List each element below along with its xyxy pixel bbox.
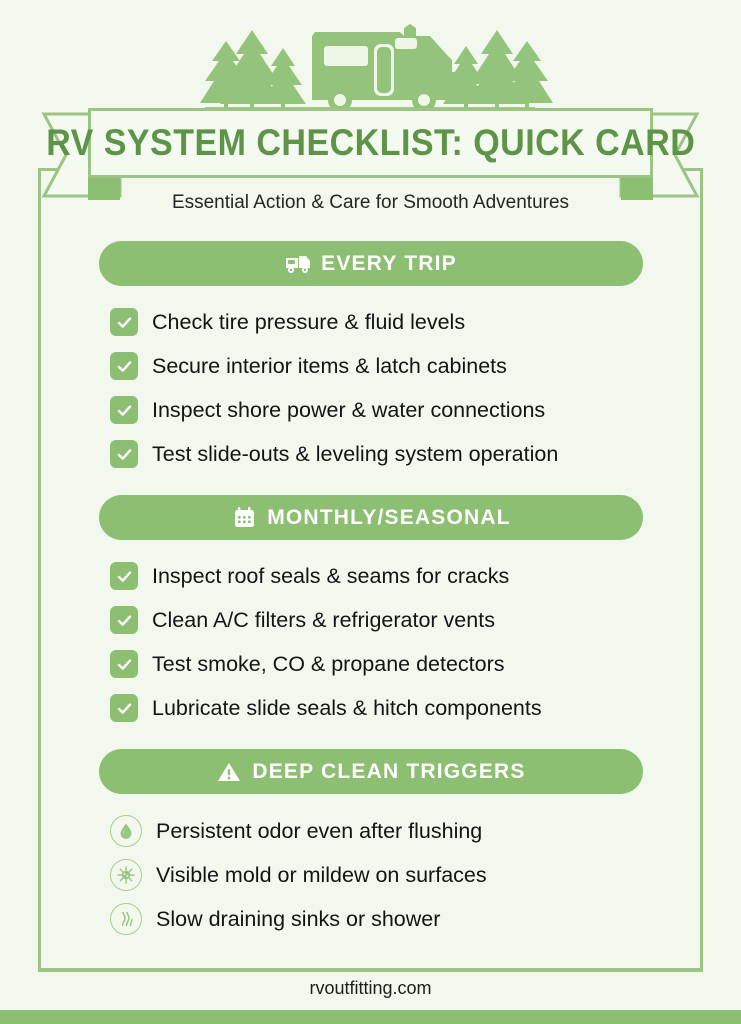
section-label-monthly-seasonal: MONTHLY/SEASONAL [267,506,511,530]
list-item-label: Clean A/C filters & refrigerator vents [152,608,495,633]
list-item[interactable]: Inspect roof seals & seams for cracks [110,554,710,598]
poster-canvas: RV SYSTEM CHECKLIST: QUICK CARD Essentia… [0,0,741,1024]
steam-waves-icon [110,903,142,935]
section-label-deep-clean-triggers: DEEP CLEAN TRIGGERS [252,760,525,784]
water-droplet-icon [110,815,142,847]
list-item-label: Test slide-outs & leveling system operat… [152,442,558,467]
page-title: RV SYSTEM CHECKLIST: QUICK CARD [46,122,695,164]
footer-divider [41,968,700,971]
list-item[interactable]: Inspect shore power & water connections [110,388,710,432]
calendar-icon [231,505,257,531]
list-item-label: Test smoke, CO & propane detectors [152,652,505,677]
list-item-label: Secure interior items & latch cabinets [152,354,507,379]
list-item[interactable]: Secure interior items & latch cabinets [110,344,710,388]
footer-website[interactable]: rvoutfitting.com [0,978,741,999]
trigger-list-deep-clean: Persistent odor even after flushing [110,809,710,941]
page-subtitle: Essential Action & Care for Smooth Adven… [0,192,741,214]
section-label-every-trip: EVERY TRIP [321,252,457,276]
list-item[interactable]: Visible mold or mildew on surfaces [110,853,710,897]
warning-triangle-icon [216,759,242,785]
list-item[interactable]: Clean A/C filters & refrigerator vents [110,598,710,642]
checkbox-checked-icon[interactable] [110,352,138,380]
checkbox-checked-icon[interactable] [110,308,138,336]
list-item[interactable]: Test smoke, CO & propane detectors [110,642,710,686]
bottom-accent-bar [0,1010,741,1024]
germ-mold-icon [110,859,142,891]
checkbox-checked-icon[interactable] [110,562,138,590]
section-header-deep-clean-triggers: DEEP CLEAN TRIGGERS [99,749,643,794]
list-item-label: Persistent odor even after flushing [156,819,482,844]
list-item-label: Inspect roof seals & seams for cracks [152,564,509,589]
list-item[interactable]: Check tire pressure & fluid levels [110,300,710,344]
section-header-every-trip: EVERY TRIP [99,241,643,286]
list-item[interactable]: Lubricate slide seals & hitch components [110,686,710,730]
ribbon-title-band: RV SYSTEM CHECKLIST: QUICK CARD [88,108,653,178]
list-item-label: Inspect shore power & water connections [152,398,545,423]
checkbox-checked-icon[interactable] [110,606,138,634]
list-item[interactable]: Test slide-outs & leveling system operat… [110,432,710,476]
list-item[interactable]: Persistent odor even after flushing [110,809,710,853]
list-item-label: Slow draining sinks or shower [156,907,440,932]
checkbox-checked-icon[interactable] [110,650,138,678]
checklist-every-trip: Check tire pressure & fluid levels Secur… [110,300,710,476]
rv-camper-icon [285,251,311,277]
checkbox-checked-icon[interactable] [110,694,138,722]
list-item-label: Visible mold or mildew on surfaces [156,863,487,888]
section-header-monthly-seasonal: MONTHLY/SEASONAL [99,495,643,540]
list-item-label: Check tire pressure & fluid levels [152,310,465,335]
list-item-label: Lubricate slide seals & hitch components [152,696,542,721]
list-item[interactable]: Slow draining sinks or shower [110,897,710,941]
checklist-monthly-seasonal: Inspect roof seals & seams for cracks Cl… [110,554,710,730]
checkbox-checked-icon[interactable] [110,396,138,424]
checkbox-checked-icon[interactable] [110,440,138,468]
